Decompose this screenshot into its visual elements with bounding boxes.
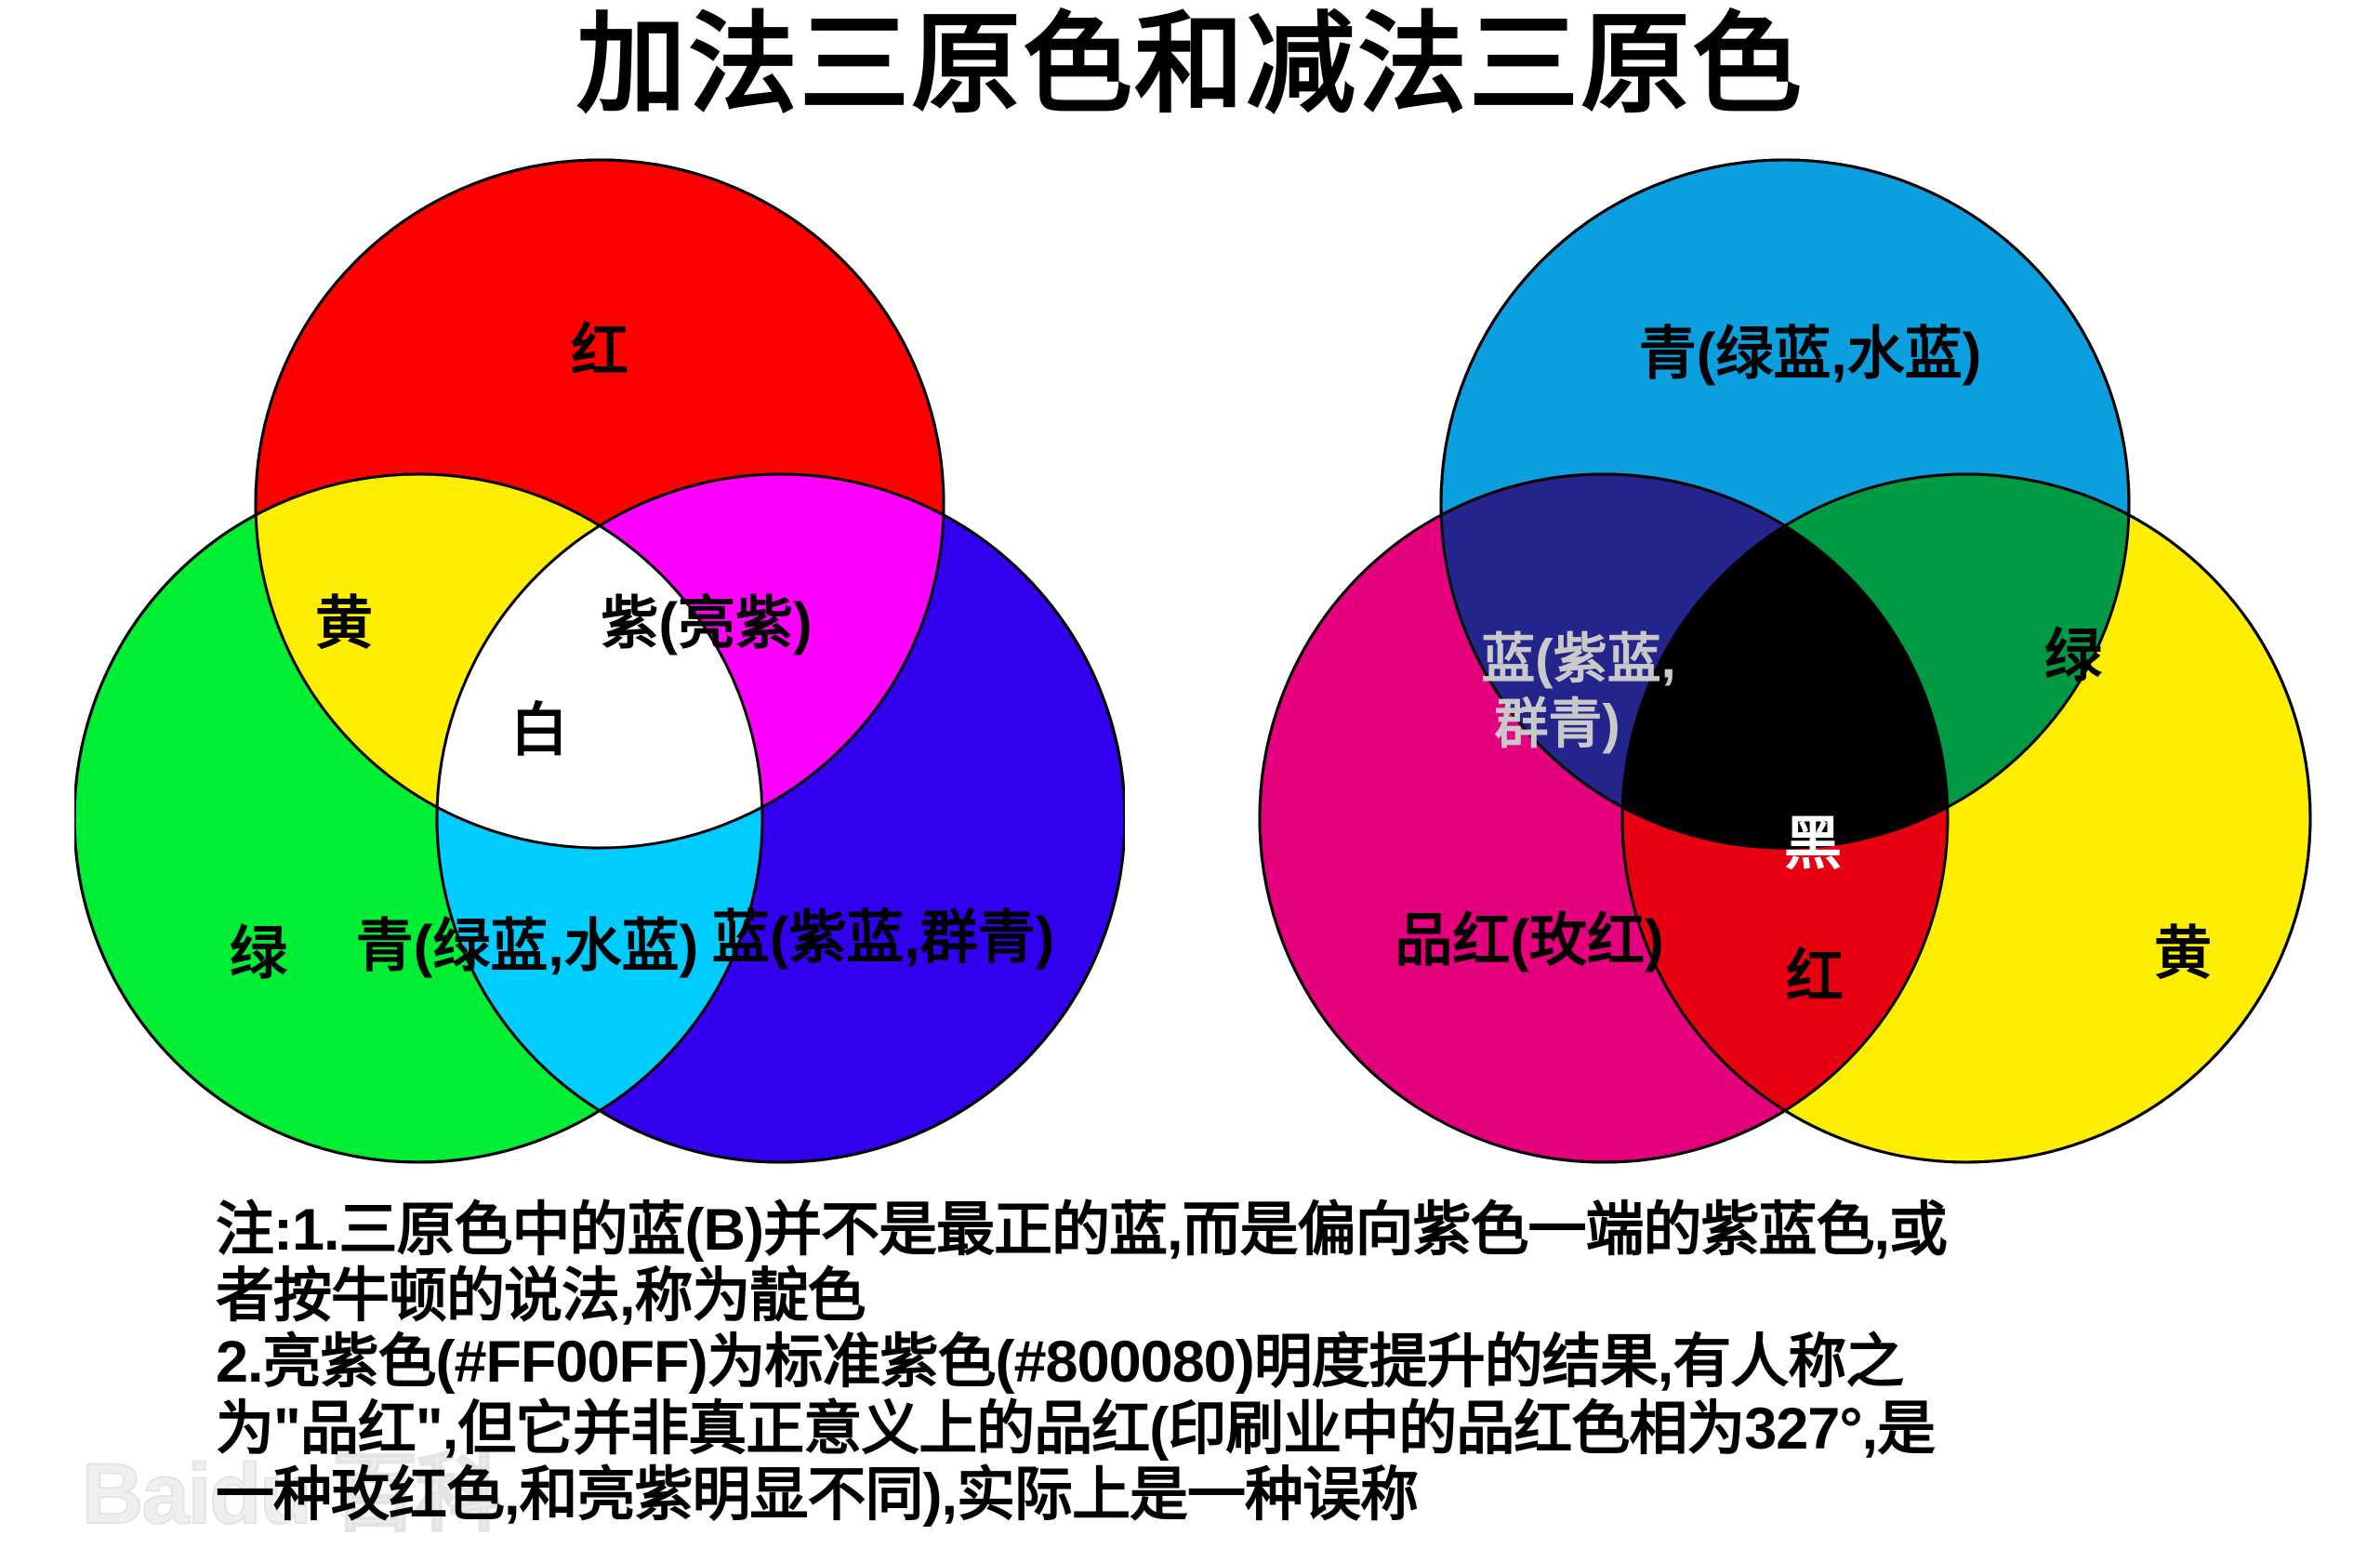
subtractive-label-red: 红	[1786, 945, 1844, 1009]
subtractive-venn-diagram: 青(绿蓝,水蓝) 品红(玫红) 黄 蓝(紫蓝, 群青) 绿 红 黑	[1236, 139, 2334, 1190]
notes-block: 注:1.三原色中的蓝(B)并不是最正的蓝,而是偏向紫色一端的紫蓝色,或 者按牛顿…	[216, 1198, 2354, 1529]
note-line-1: 注:1.三原色中的蓝(B)并不是最正的蓝,而是偏向紫色一端的紫蓝色,或	[216, 1198, 2354, 1264]
subtractive-label-magenta: 品红(玫红)	[1395, 908, 1663, 973]
additive-label-green: 绿	[230, 921, 288, 986]
subtractive-label-cyan: 青(绿蓝,水蓝)	[1639, 322, 1982, 386]
subtractive-label-blue-line2: 群青)	[1494, 694, 1620, 754]
subtractive-label-green: 绿	[2044, 624, 2103, 688]
note-line-5: 一种玫红色,和亮紫明显不同),实际上是一种误称	[216, 1463, 2354, 1529]
subtractive-label-black: 黑	[1784, 812, 1842, 876]
subtractive-venn-svg: 青(绿蓝,水蓝) 品红(玫红) 黄 蓝(紫蓝, 群青) 绿 红 黑	[1236, 139, 2334, 1190]
subtractive-label-blue-line1: 蓝(紫蓝,	[1481, 629, 1675, 689]
note-line-3: 2.亮紫色(#FF00FF)为标准紫色(#800080)明度提升的结果,有人称之	[216, 1330, 2354, 1396]
additive-label-blue: 蓝(紫蓝,群青)	[712, 906, 1055, 970]
additive-venn-svg: 红 绿 蓝(紫蓝,群青) 黄 紫(亮紫) 青(绿蓝,水蓝) 白	[74, 139, 1125, 1190]
additive-label-magenta: 紫(亮紫)	[601, 591, 812, 655]
note-line-2: 者按牛顿的说法,称为靛色	[216, 1264, 2354, 1330]
additive-label-red: 红	[571, 319, 628, 383]
subtractive-label-yellow: 黄	[2154, 921, 2212, 986]
additive-venn-diagram: 红 绿 蓝(紫蓝,群青) 黄 紫(亮紫) 青(绿蓝,水蓝) 白	[74, 139, 1125, 1190]
additive-label-cyan: 青(绿蓝,水蓝)	[356, 914, 699, 978]
infographic-page: 加法三原色和减法三原色	[0, 0, 2380, 1562]
note-line-4: 为"品红",但它并非真正意义上的品红(印刷业中的品红色相为327°,是	[216, 1397, 2354, 1463]
additive-label-yellow: 黄	[315, 591, 373, 655]
additive-label-white: 白	[510, 698, 568, 762]
page-title: 加法三原色和减法三原色	[0, 7, 2380, 124]
